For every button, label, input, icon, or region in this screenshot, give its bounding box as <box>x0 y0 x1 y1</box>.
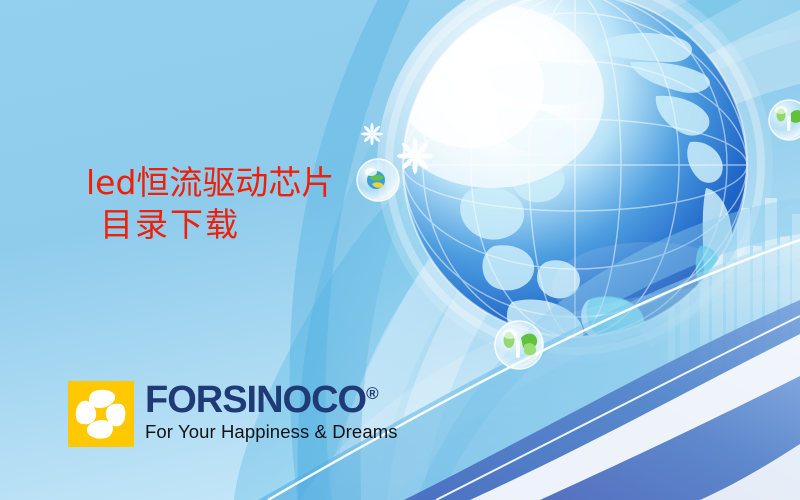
headline-line-1: led恒流驱动芯片 <box>86 162 334 204</box>
bubble-with-globe-icon <box>357 159 399 201</box>
headline-line-2: 目录下载 <box>86 204 334 246</box>
brand-logo[interactable]: FORSINOCO® For Your Happiness & Dreams <box>68 381 398 447</box>
logo-tagline: For Your Happiness & Dreams <box>145 422 398 442</box>
four-petal-pinwheel-icon <box>68 381 134 447</box>
logo-brand-text: FORSINOCO <box>145 379 366 421</box>
promo-banner: led恒流驱动芯片 目录下载 FORSINOCO® For Your Happi… <box>0 0 800 500</box>
bubble-with-plant-icon <box>495 321 543 369</box>
logo-brand-name: FORSINOCO® <box>145 382 398 419</box>
headline-text: led恒流驱动芯片 目录下载 <box>86 162 334 246</box>
logo-wordmark: FORSINOCO® For Your Happiness & Dreams <box>145 381 398 443</box>
registered-trademark-icon: ® <box>366 384 379 403</box>
